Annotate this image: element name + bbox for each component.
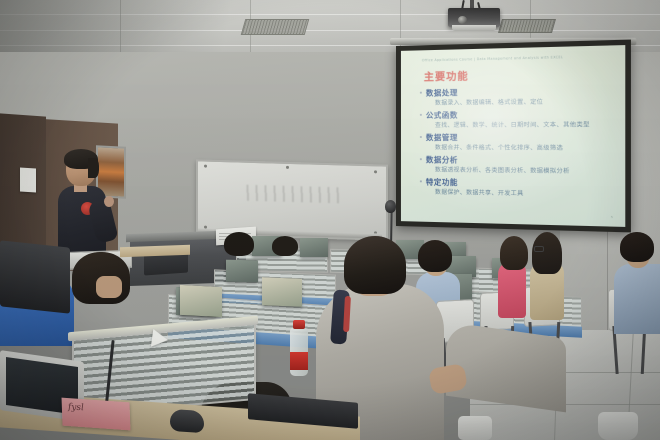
- monitor: [226, 260, 258, 283]
- projector-lens-icon: [458, 16, 467, 24]
- monitor: [262, 277, 302, 306]
- cola-bottle-label: [290, 352, 308, 370]
- student-hair: [620, 232, 654, 262]
- student-right-blue-shirt: [614, 264, 660, 334]
- monitor-foreground: [0, 240, 70, 313]
- classroom-scene: Office Applications Course | Data Manage…: [0, 0, 660, 440]
- monitor: [300, 238, 328, 257]
- paper-airplane: [151, 329, 169, 349]
- student-hair: [532, 232, 562, 274]
- instructor-hair: [88, 158, 99, 178]
- student-hair: [344, 236, 406, 294]
- glasses-icon: [534, 246, 544, 252]
- waste-bin: [458, 416, 492, 440]
- microphone-icon[interactable]: [385, 200, 396, 213]
- monitor: [180, 285, 222, 317]
- computer-mouse[interactable]: [170, 409, 204, 433]
- student-hair: [224, 232, 254, 256]
- wall-sign-paper: [20, 167, 36, 192]
- student-hair: [272, 236, 298, 256]
- projection-screen[interactable]: Office Applications Course | Data Manage…: [396, 40, 631, 233]
- projector-plate: [452, 25, 496, 31]
- cola-bottle-cap: [293, 320, 305, 329]
- student-face-side: [96, 276, 122, 298]
- ceiling-vent-icon: [241, 19, 310, 35]
- screen-glare: [401, 45, 625, 227]
- student-hair: [418, 240, 452, 272]
- student-hair: [500, 236, 528, 270]
- whiteboard-screw: [374, 170, 377, 173]
- whiteboard-erased-writing: [244, 185, 344, 204]
- waste-bin: [598, 412, 638, 440]
- instructor-hand: [104, 196, 114, 207]
- student-pink-top: [498, 262, 526, 318]
- whiteboard-screw: [286, 166, 289, 169]
- student-arm-sleeve: [446, 322, 566, 413]
- ceiling-vent-icon: [498, 19, 556, 33]
- whiteboard-screw: [204, 165, 207, 168]
